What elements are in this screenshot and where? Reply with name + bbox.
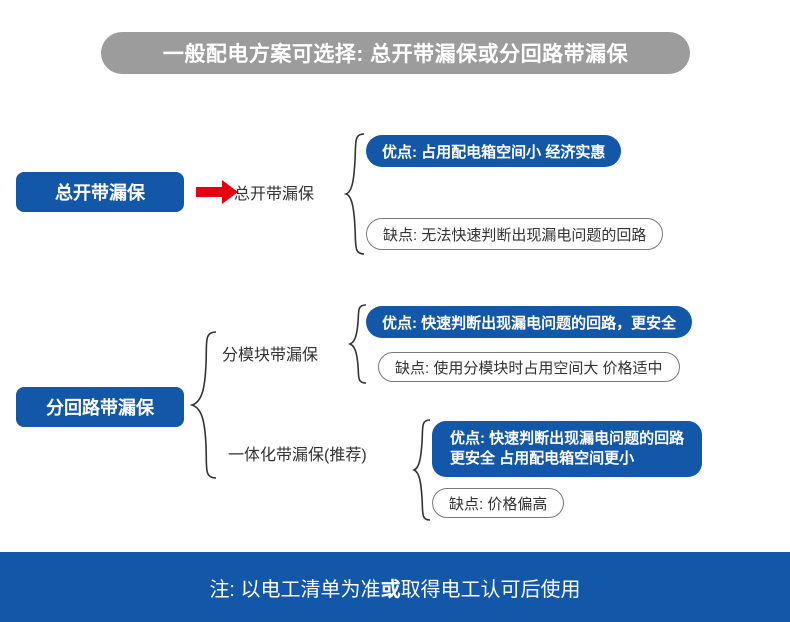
curly-brace-icon xyxy=(190,330,218,480)
curly-brace-icon xyxy=(412,418,432,522)
footer-prefix: 注: 以电工清单为准 xyxy=(209,573,380,602)
node-main-breaker-label: 总开带漏保 xyxy=(234,180,314,204)
node-main-breaker-pill[interactable]: 总开带漏保 xyxy=(16,172,184,212)
node-module-rcd-label: 分模块带漏保 xyxy=(222,341,318,365)
footer-note: 注: 以电工清单为准或取得电工认可后使用 xyxy=(0,552,790,622)
con-capsule-integrated: 缺点: 价格偏高 xyxy=(432,488,564,518)
con-capsule-module: 缺点: 使用分模块时占用空间大 价格适中 xyxy=(378,352,680,382)
diagram-canvas: 一般配电方案可选择: 总开带漏保或分回路带漏保 总开带漏保 总开带漏保 优点: … xyxy=(0,0,790,622)
node-integrated-rcd-label: 一体化带漏保(推荐) xyxy=(228,441,367,465)
footer-emphasis: 或 xyxy=(381,573,401,602)
pro-capsule-integrated-line1: 优点: 快速判断出现漏电问题的回路 xyxy=(450,429,684,449)
pro-capsule-main: 优点: 占用配电箱空间小 经济实惠 xyxy=(366,135,621,167)
pro-capsule-module: 优点: 快速判断出现漏电问题的回路，更安全 xyxy=(366,306,692,338)
footer-suffix: 取得电工认可后使用 xyxy=(401,573,581,602)
node-circuit-branch-pill[interactable]: 分回路带漏保 xyxy=(16,387,184,427)
pro-capsule-integrated: 优点: 快速判断出现漏电问题的回路 更安全 占用配电箱空间更小 xyxy=(432,421,702,477)
curly-brace-icon xyxy=(348,303,368,385)
page-title: 一般配电方案可选择: 总开带漏保或分回路带漏保 xyxy=(101,32,690,74)
pro-capsule-integrated-line2: 更安全 占用配电箱空间更小 xyxy=(450,449,634,469)
curly-brace-icon xyxy=(344,132,366,256)
con-capsule-main: 缺点: 无法快速判断出现漏电问题的回路 xyxy=(366,218,663,250)
right-arrow-icon xyxy=(196,180,238,204)
